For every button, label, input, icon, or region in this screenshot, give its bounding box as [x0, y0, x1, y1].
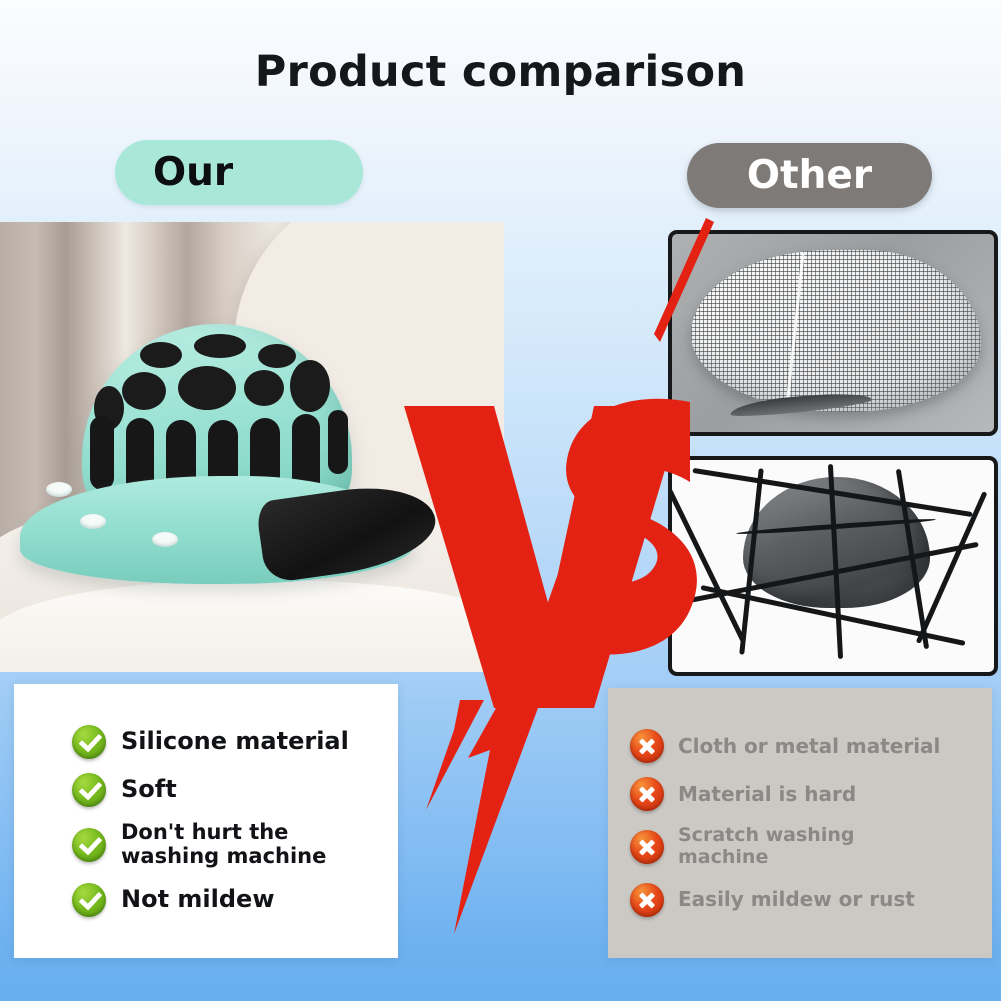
pros-item-label: Don't hurt the washing machine	[121, 821, 326, 869]
cage-hole	[194, 334, 246, 358]
cons-item-line: Scratch washing	[678, 824, 854, 846]
cons-item-label: Cloth or metal material	[678, 735, 940, 758]
x-circle-icon	[630, 777, 664, 811]
cons-item-label: Scratch washing machine	[678, 825, 854, 868]
pros-item-label: Not mildew	[121, 886, 275, 913]
our-product-photo	[0, 222, 504, 672]
check-circle-icon	[72, 773, 106, 807]
other-label-text: Other	[747, 153, 872, 198]
pros-item-label: Soft	[121, 776, 177, 803]
pros-item-line: Don't hurt the	[121, 820, 288, 844]
pros-item-line: washing machine	[121, 844, 326, 868]
cage-slot	[90, 416, 114, 490]
check-circle-icon	[72, 828, 106, 862]
cage-rivet	[46, 482, 72, 497]
cage-hole	[122, 372, 166, 410]
other-label-pill: Other	[687, 143, 932, 208]
cons-list-item: Cloth or metal material	[608, 722, 992, 770]
cons-item-label: Easily mildew or rust	[678, 888, 915, 911]
x-circle-icon	[630, 729, 664, 763]
wire-bar	[668, 489, 746, 644]
page-title: Product comparison	[0, 47, 1001, 97]
cage-hole	[244, 370, 284, 406]
x-circle-icon	[630, 830, 664, 864]
cons-list: Cloth or metal material Material is hard…	[608, 688, 992, 958]
check-circle-icon	[72, 725, 106, 759]
other-wire-cage-photo	[668, 456, 998, 676]
mesh-laundry-bag	[691, 250, 981, 412]
cage-hole	[178, 366, 236, 410]
cons-list-item: Easily mildew or rust	[608, 876, 992, 924]
pros-list: Silicone material Soft Don't hurt the wa…	[14, 684, 398, 958]
versus-bolt-main	[454, 708, 538, 934]
x-circle-icon	[630, 883, 664, 917]
versus-bolt-small	[426, 700, 484, 810]
pros-list-item: Silicone material	[14, 718, 398, 766]
pros-list-item: Not mildew	[14, 876, 398, 924]
infographic-canvas: Product comparison Our	[0, 0, 1001, 1001]
cons-panel: Cloth or metal material Material is hard…	[608, 688, 992, 958]
our-label-pill: Our	[115, 140, 363, 205]
cons-list-item: Material is hard	[608, 770, 992, 818]
pros-list-item: Soft	[14, 766, 398, 814]
pros-item-label: Silicone material	[121, 728, 349, 755]
pros-list-item: Don't hurt the washing machine	[14, 814, 398, 876]
cage-hole	[140, 342, 182, 368]
our-label-text: Our	[153, 150, 233, 195]
cage-slot	[328, 410, 348, 474]
cage-hole	[290, 360, 330, 412]
red-accent-stroke	[650, 216, 720, 346]
cage-rivet	[152, 532, 178, 547]
silicone-cap-cage	[82, 324, 352, 529]
cons-list-item: Scratch washing machine	[608, 818, 992, 875]
pros-panel: Silicone material Soft Don't hurt the wa…	[14, 684, 398, 958]
cage-hole	[258, 344, 296, 368]
cons-item-label: Material is hard	[678, 783, 856, 806]
photo-pedestal-top	[0, 580, 504, 672]
cons-item-line: machine	[678, 846, 768, 868]
check-circle-icon	[72, 883, 106, 917]
cage-rivet	[80, 514, 106, 529]
